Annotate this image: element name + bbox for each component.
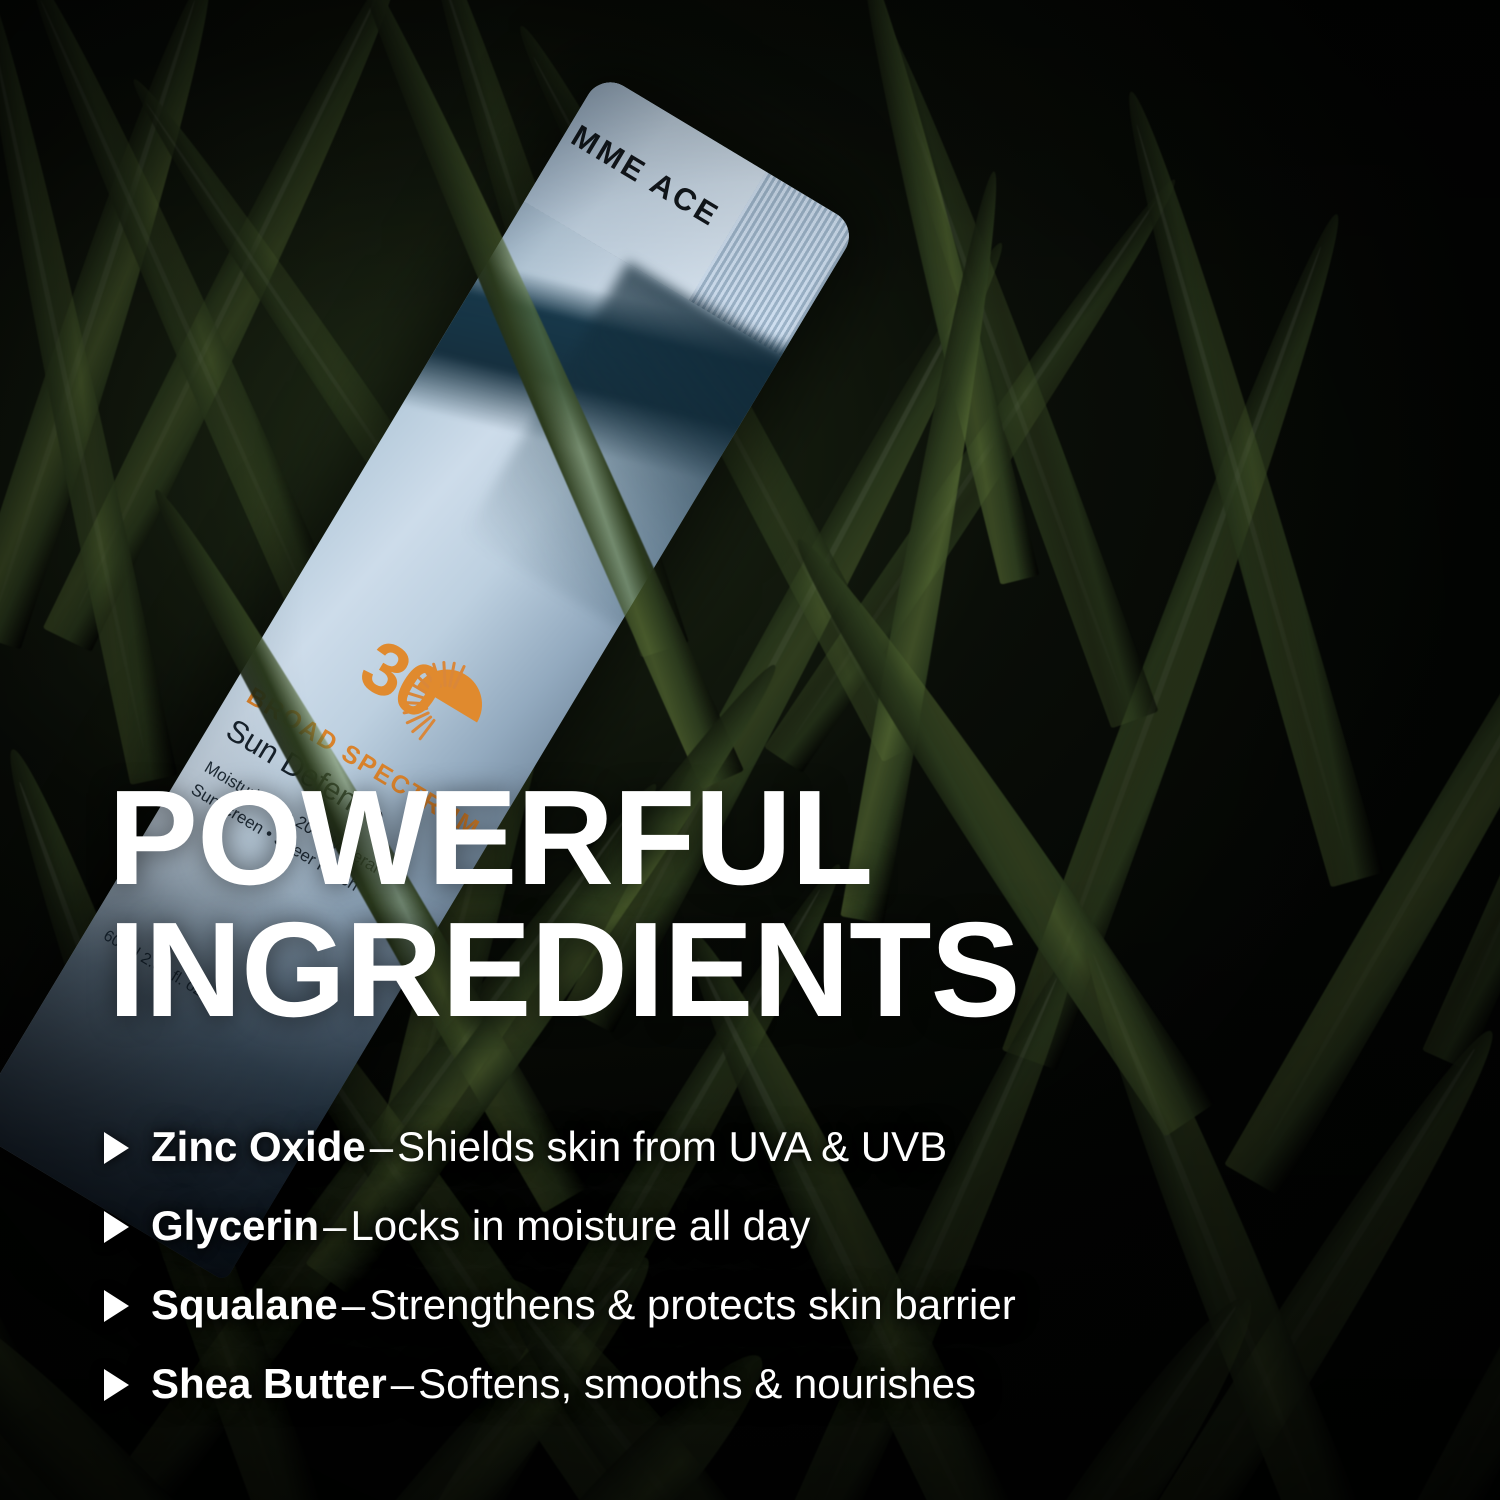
ingredient-name: Zinc Oxide [151,1123,366,1170]
triangle-right-icon [104,1290,129,1322]
headline-line-2: INGREDIENTS [108,904,1020,1036]
ingredient-name: Glycerin [151,1202,319,1249]
triangle-right-icon [104,1369,129,1401]
ingredient-dash: – [319,1202,350,1249]
ingredient-text: Squalane–Strengthens & protects skin bar… [151,1282,1016,1328]
ingredient-list: Zinc Oxide–Shields skin from UVA & UVBGl… [104,1108,1304,1424]
ingredient-description: Softens, smooths & nourishes [418,1360,976,1407]
ingredient-dash: – [387,1360,418,1407]
ingredient-text: Shea Butter–Softens, smooths & nourishes [151,1361,976,1407]
ingredient-text: Glycerin–Locks in moisture all day [151,1203,810,1249]
ingredient-dash: – [338,1281,369,1328]
ingredient-name: Shea Butter [151,1360,387,1407]
ingredient-text: Zinc Oxide–Shields skin from UVA & UVB [151,1124,947,1170]
headline: POWERFUL INGREDIENTS [108,772,1020,1037]
ingredient-description: Locks in moisture all day [350,1202,810,1249]
ingredient-row: Glycerin–Locks in moisture all day [104,1187,1304,1266]
text-overlay: POWERFUL INGREDIENTS Zinc Oxide–Shields … [0,0,1500,1500]
ingredient-row: Squalane–Strengthens & protects skin bar… [104,1266,1304,1345]
promo-banner: MME ACE 30 BROAD SPECTRUM Sun Defense Mo… [0,0,1500,1500]
triangle-right-icon [104,1132,129,1164]
ingredient-description: Shields skin from UVA & UVB [397,1123,947,1170]
ingredient-row: Zinc Oxide–Shields skin from UVA & UVB [104,1108,1304,1187]
headline-line-1: POWERFUL [108,772,1020,904]
ingredient-row: Shea Butter–Softens, smooths & nourishes [104,1345,1304,1424]
ingredient-name: Squalane [151,1281,338,1328]
ingredient-description: Strengthens & protects skin barrier [369,1281,1016,1328]
triangle-right-icon [104,1211,129,1243]
ingredient-dash: – [366,1123,397,1170]
